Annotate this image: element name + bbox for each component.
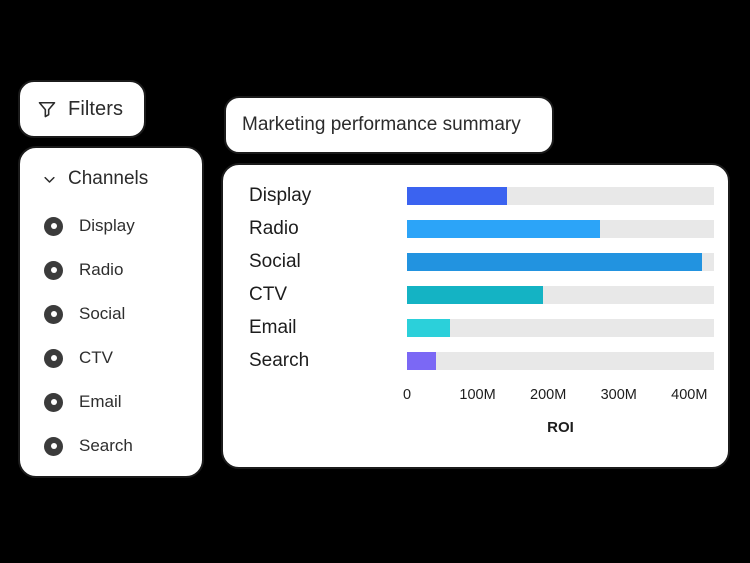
- bar-fill[interactable]: [407, 352, 436, 370]
- x-axis-tick-label: 300M: [601, 387, 637, 403]
- filters-button-label: Filters: [68, 98, 123, 121]
- sidebar-item-label: Email: [79, 392, 122, 412]
- bar-track: [407, 187, 714, 205]
- channels-group-title: Channels: [68, 168, 148, 190]
- bar-fill[interactable]: [407, 220, 600, 238]
- bar-category-label: Social: [249, 251, 407, 273]
- radio-icon[interactable]: [44, 437, 63, 456]
- sidebar-item-label: Display: [79, 216, 135, 236]
- x-axis-tick-label: 0: [403, 387, 411, 403]
- bar-row: CTV: [249, 284, 714, 306]
- bar-row: Radio: [249, 218, 714, 240]
- x-axis-tick-label: 400M: [671, 387, 707, 403]
- bar-category-label: CTV: [249, 284, 407, 306]
- bar-fill[interactable]: [407, 253, 702, 271]
- bar-row: Search: [249, 350, 714, 372]
- sidebar-item-search[interactable]: Search: [20, 424, 202, 468]
- sidebar-item-social[interactable]: Social: [20, 292, 202, 336]
- bar-track: [407, 253, 714, 271]
- bar-fill[interactable]: [407, 187, 507, 205]
- channel-list: Display Radio Social CTV Email Search: [20, 204, 202, 468]
- chevron-down-icon: [42, 172, 57, 187]
- radio-icon[interactable]: [44, 349, 63, 368]
- x-axis-tick-label: 100M: [459, 387, 495, 403]
- funnel-icon: [37, 99, 57, 119]
- screenshot-root: Filters Channels Display Radio Social: [0, 0, 750, 563]
- radio-icon[interactable]: [44, 261, 63, 280]
- sidebar-item-display[interactable]: Display: [20, 204, 202, 248]
- filters-button[interactable]: Filters: [18, 80, 146, 138]
- bar-track: [407, 319, 714, 337]
- sidebar-item-email[interactable]: Email: [20, 380, 202, 424]
- channels-group-header[interactable]: Channels: [20, 162, 202, 196]
- bar-category-label: Email: [249, 317, 407, 339]
- x-axis-title: ROI: [407, 419, 714, 436]
- bar-row: Social: [249, 251, 714, 273]
- sidebar-item-label: CTV: [79, 348, 113, 368]
- bar-category-label: Search: [249, 350, 407, 372]
- x-axis: 0100M200M300M400M: [407, 387, 714, 407]
- sidebar-item-radio[interactable]: Radio: [20, 248, 202, 292]
- bar-row: Display: [249, 185, 714, 207]
- bar-chart: DisplayRadioSocialCTVEmailSearch0100M200…: [223, 165, 728, 467]
- chart-card: DisplayRadioSocialCTVEmailSearch0100M200…: [221, 163, 730, 469]
- sidebar-item-label: Radio: [79, 260, 123, 280]
- bar-category-label: Display: [249, 185, 407, 207]
- bar-category-label: Radio: [249, 218, 407, 240]
- bar-track: [407, 352, 714, 370]
- radio-icon[interactable]: [44, 217, 63, 236]
- bar-fill[interactable]: [407, 286, 543, 304]
- sidebar-item-label: Search: [79, 436, 133, 456]
- page-title: Marketing performance summary: [242, 114, 521, 136]
- sidebar-item-ctv[interactable]: CTV: [20, 336, 202, 380]
- bar-track: [407, 220, 714, 238]
- radio-icon[interactable]: [44, 305, 63, 324]
- bar-row: Email: [249, 317, 714, 339]
- x-axis-tick-label: 200M: [530, 387, 566, 403]
- bar-fill[interactable]: [407, 319, 450, 337]
- radio-icon[interactable]: [44, 393, 63, 412]
- bar-track: [407, 286, 714, 304]
- chart-title-card: Marketing performance summary: [224, 96, 554, 154]
- channels-panel: Channels Display Radio Social CTV Email: [18, 146, 204, 478]
- sidebar-item-label: Social: [79, 304, 125, 324]
